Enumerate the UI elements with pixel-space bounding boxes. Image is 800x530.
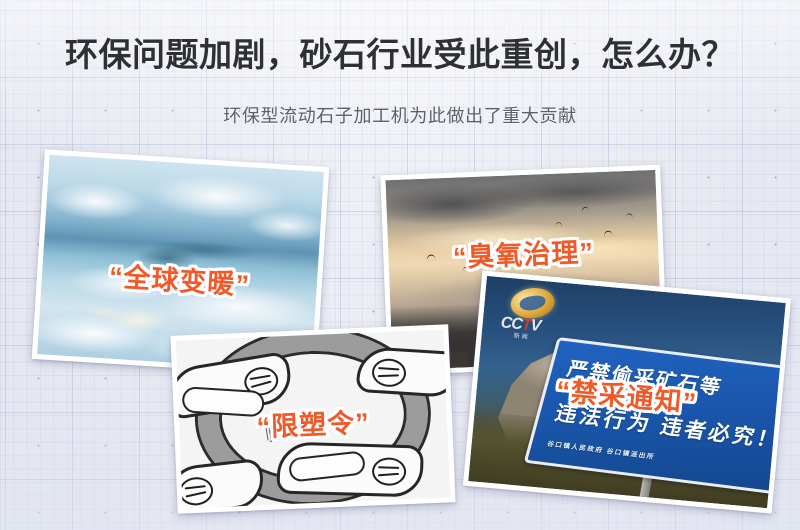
cctv-watermark: CCTV 新闻 xyxy=(499,286,569,344)
plastic-bag-cartoon-image: 限塑令 “限塑令” xyxy=(176,329,451,508)
page-title: 环保问题加剧，砂石行业受此重创，怎么办？ xyxy=(0,33,800,77)
poster-canvas: 环保问题加剧，砂石行业受此重创，怎么办？ 环保型流动石子加工机为此做出了重大贡献… xyxy=(0,0,800,530)
bird-icon xyxy=(555,221,563,227)
cartoon-hand-shape xyxy=(356,346,451,398)
cartoon-knuckle-shape xyxy=(372,457,407,486)
photo-inner-mining-ban: CCTV 新闻 严禁偷采矿石等 违法行为 违者必究！ 谷口镇人民政府 谷口镇派出… xyxy=(468,276,785,508)
photo-inner-plastic-ban: 限塑令 “限塑令” xyxy=(176,329,451,508)
photo-card-plastic-ban[interactable]: 限塑令 “限塑令” xyxy=(170,324,455,513)
photo-card-mining-ban[interactable]: CCTV 新闻 严禁偷采矿石等 违法行为 违者必究！ 谷口镇人民政府 谷口镇派出… xyxy=(463,270,791,513)
bird-icon xyxy=(625,213,633,219)
cartoon-knuckle-shape xyxy=(371,358,407,388)
cctv-sub-label: 新闻 xyxy=(513,331,530,341)
sign-line-3: 谷口镇人民政府 谷口镇派出所 xyxy=(546,437,656,460)
bird-icon xyxy=(581,206,590,214)
cartoon-hand-shape xyxy=(176,458,267,509)
page-subtitle: 环保型流动石子加工机为此做出了重大贡献 xyxy=(0,103,800,129)
cartoon-knuckle-shape xyxy=(178,475,215,507)
